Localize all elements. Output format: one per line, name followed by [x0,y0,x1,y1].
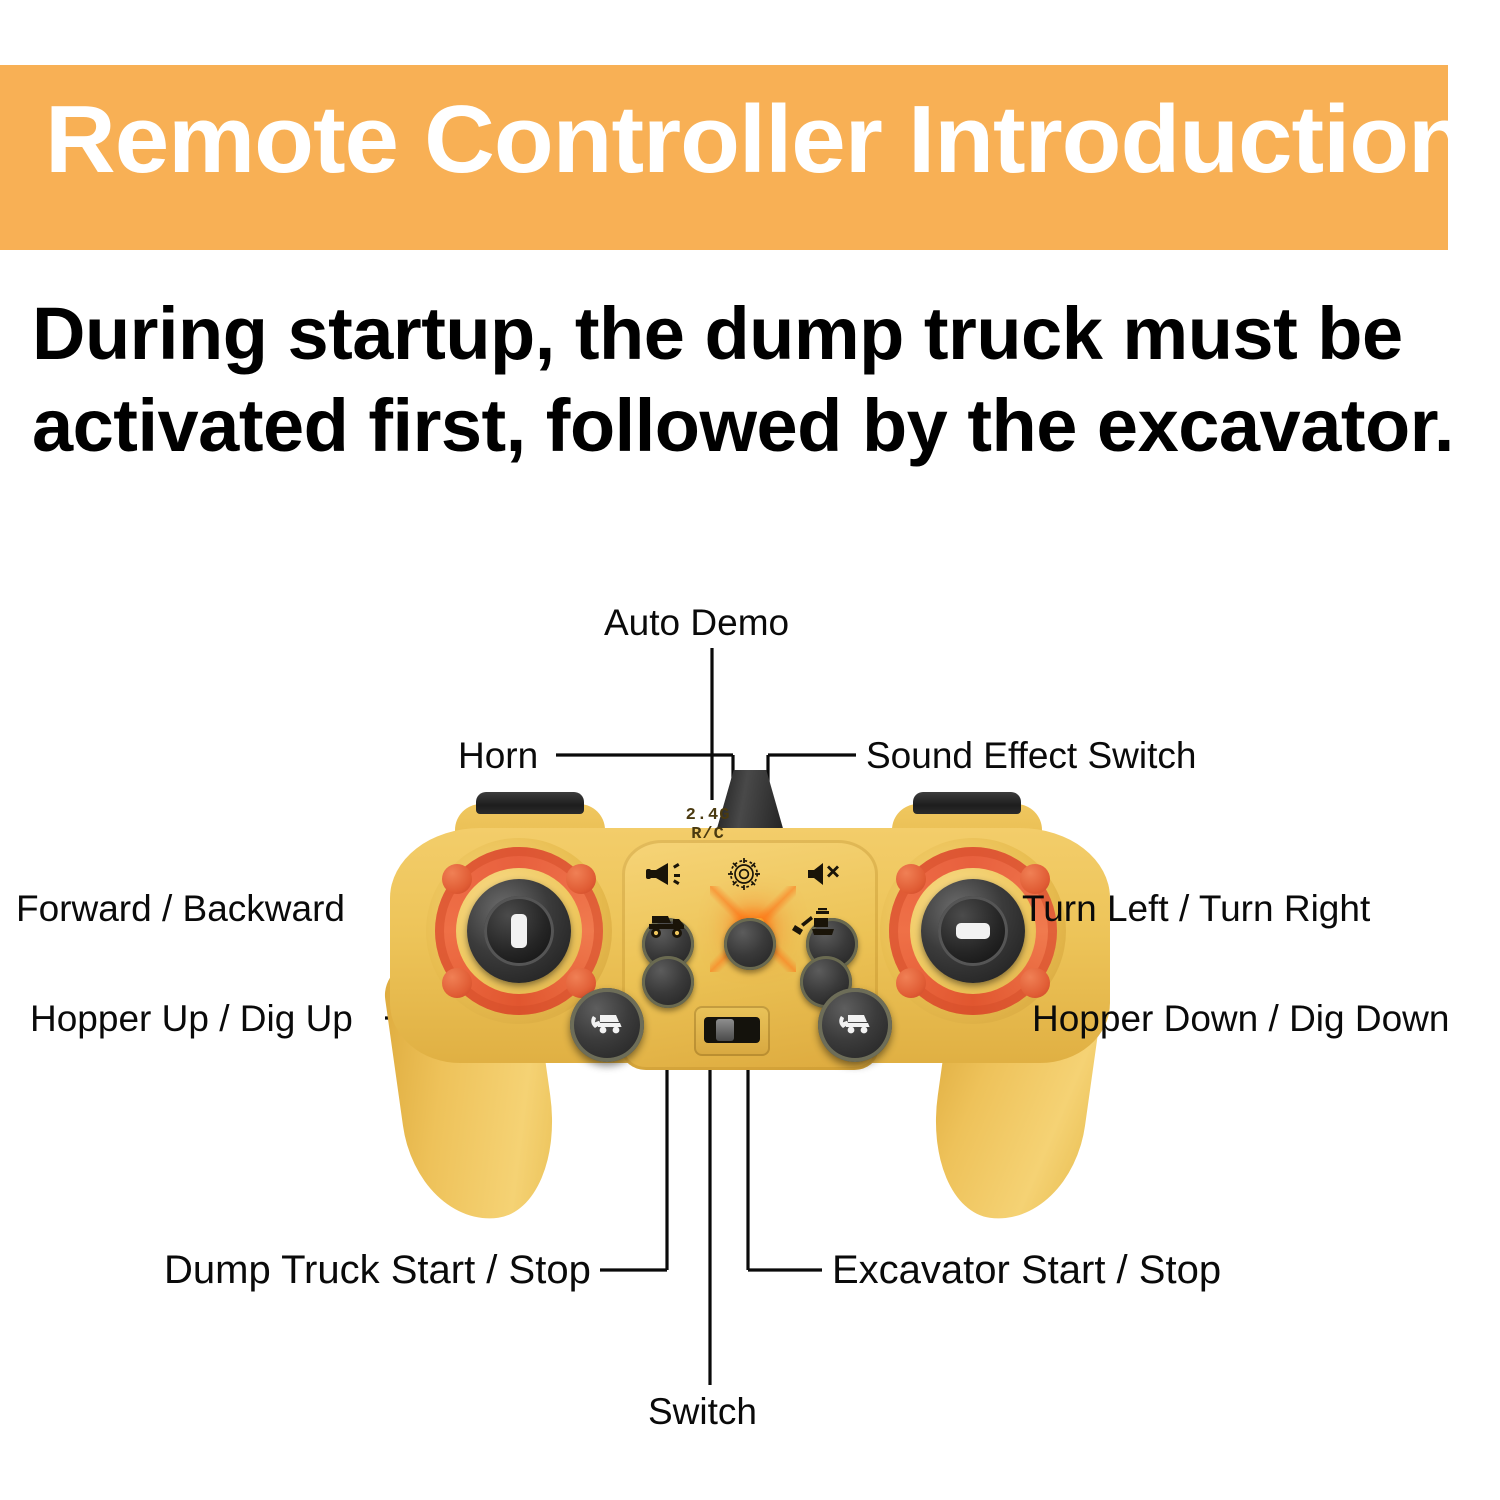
callout-label-switch: Switch [648,1392,757,1432]
left-stick-indicator [511,914,527,948]
bumper-button-left[interactable] [476,792,584,814]
callout-label-auto-demo: Auto Demo [604,603,789,643]
callout-label-hopper-down: Hopper Down / Dig Down [1032,999,1449,1039]
nub-bl [442,968,472,998]
nub-bl [896,968,926,998]
callout-label-horn: Horn [458,736,538,776]
page-root: Remote Controller Introduction During st… [0,0,1500,1500]
right-stick-indicator [956,923,990,939]
right-joystick-well [880,838,1066,1024]
callout-label-sound-effect-switch: Sound Effect Switch [866,736,1196,776]
callout-label-forward-backward: Forward / Backward [16,889,345,929]
callout-label-hopper-up: Hopper Up / Dig Up [30,999,353,1039]
switch-knob[interactable] [716,1019,734,1041]
controller-body: 2.4G R/C [380,770,1120,1170]
hopper-down-button[interactable] [818,988,892,1062]
nub-tl [442,864,472,894]
nub-tl [896,864,926,894]
power-slide-switch[interactable] [694,1006,770,1056]
callout-label-dump-truck-start-stop: Dump Truck Start / Stop [164,1249,591,1291]
nub-br [1020,968,1050,998]
nub-tr [566,864,596,894]
dump-truck-start-stop-button[interactable] [642,956,694,1008]
callout-label-turn-left-right: Turn Left / Turn Right [1022,889,1370,929]
controller-diagram: 2.4G R/C [0,0,1500,1500]
auto-demo-button[interactable] [724,918,776,970]
bumper-button-right[interactable] [913,792,1021,814]
hopper-up-button[interactable] [570,988,644,1062]
callout-label-excavator-start-stop: Excavator Start / Stop [832,1249,1221,1291]
brand-tag: 2.4G R/C [668,806,748,828]
